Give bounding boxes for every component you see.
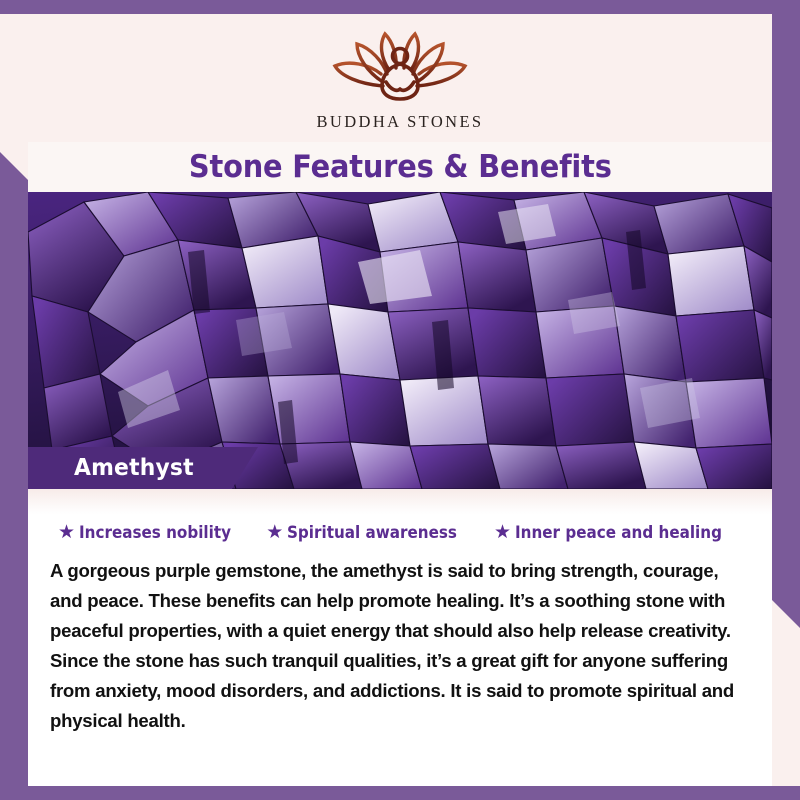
benefit-item: ★ Increases nobility [58, 523, 244, 542]
benefit-item: ★ Inner peace and healing [494, 523, 740, 542]
frame-band-left [0, 180, 28, 800]
star-icon: ★ [58, 523, 75, 542]
page-title: Stone Features & Benefits [189, 149, 612, 185]
benefit-label: Spiritual awareness [287, 523, 457, 542]
title-bar: Stone Features & Benefits [28, 142, 772, 192]
stone-label-text: Amethyst [74, 455, 194, 481]
frame-band-right [772, 0, 800, 600]
fade-divider [28, 489, 772, 515]
frame-tip-left [0, 152, 28, 180]
amethyst-crystal-cluster-photo [28, 192, 772, 489]
star-icon: ★ [494, 523, 511, 542]
benefit-label: Increases nobility [79, 523, 231, 542]
infographic-page: BUDDHA STONES Stone Features & Benefits [0, 0, 800, 800]
frame-band-bottom [0, 786, 800, 800]
lotus-meditation-figure-icon [325, 24, 475, 110]
content-card: BUDDHA STONES Stone Features & Benefits [28, 14, 772, 786]
frame-band-top [0, 0, 800, 14]
description-paragraph: A gorgeous purple gemstone, the amethyst… [42, 556, 756, 736]
benefit-label: Inner peace and healing [515, 523, 722, 542]
body-content: ★ Increases nobility ★ Spiritual awarene… [28, 515, 772, 786]
brand-header: BUDDHA STONES [28, 14, 772, 142]
benefits-row: ★ Increases nobility ★ Spiritual awarene… [42, 523, 756, 542]
benefit-item: ★ Spiritual awareness [266, 523, 472, 542]
stone-label-banner: Amethyst [28, 447, 258, 489]
star-icon: ★ [266, 523, 283, 542]
hero-image: Amethyst [28, 192, 772, 489]
brand-name: BUDDHA STONES [316, 112, 483, 132]
frame-tip-right [772, 600, 800, 628]
